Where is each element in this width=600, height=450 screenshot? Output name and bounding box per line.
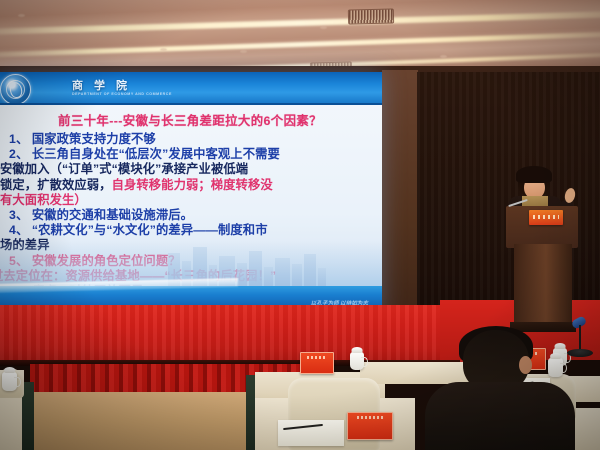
slide-line-part-highlight: 自身转移能力弱；梯度转移没 [112, 178, 273, 192]
ceiling-spotlight-3 [240, 50, 247, 53]
podium-name-plate [529, 210, 563, 225]
slide-line: 有大面积发生） [0, 193, 376, 208]
teacup-back-left [350, 352, 364, 370]
slide-line: 锁定，扩散效应弱，自身转移能力弱；梯度转移没 [0, 178, 376, 193]
presentation-slide: 商学院 DEPARTMENT OF ECONOMY AND COMMERCE 前… [0, 72, 382, 315]
stage-backdrop [0, 305, 485, 365]
school-emblem-icon [0, 74, 31, 105]
ceiling-spotlight-1 [18, 14, 25, 17]
projection-screen: 商学院 DEPARTMENT OF ECONOMY AND COMMERCE 前… [0, 72, 382, 315]
slide-header: 商学院 DEPARTMENT OF ECONOMY AND COMMERCE [0, 72, 382, 105]
ceiling-spotlight-5 [440, 55, 447, 58]
table-microphone [560, 318, 600, 366]
attendee-torso [425, 382, 575, 450]
name-card-front-center [347, 412, 393, 440]
ceiling-vent-icon [348, 8, 394, 24]
notepad-center [278, 420, 344, 446]
microphone-pole [579, 325, 581, 351]
slide-line: 3、 安徽的交通和基础设施滞后。 [0, 208, 376, 223]
slide-header-title-en: DEPARTMENT OF ECONOMY AND COMMERCE [72, 92, 172, 96]
speaker-area [470, 150, 600, 330]
speaker-hand [564, 187, 577, 204]
ceiling [0, 0, 600, 72]
speaker-hair-top [516, 166, 552, 183]
slide-line: 安徽加入（“订单”式“模块化”承接产业被低端 [0, 162, 376, 177]
ceiling-light-strip-1 [0, 11, 600, 34]
slide-line-part: 锁定，扩散效应弱， [0, 178, 112, 192]
wall-panel [382, 70, 418, 320]
slide-header-title-cn: 商学院 [72, 77, 138, 93]
name-card-back-left [300, 352, 334, 374]
ceiling-light-strip-2 [0, 32, 600, 58]
conference-hall-photo: 商学院 DEPARTMENT OF ECONOMY AND COMMERCE 前… [0, 0, 600, 450]
teacup-far-left [2, 372, 17, 391]
ceiling-spotlight-2 [160, 48, 167, 51]
attendee-ear [519, 356, 532, 374]
slide-line: 1、 国家政策支持力度不够 [0, 132, 376, 147]
microphone-base [567, 349, 593, 357]
slide-line: 4、 “农耕文化”与“水文化”的差异——制度和市 [0, 223, 376, 238]
ceiling-spotlight-4 [320, 26, 327, 29]
slide-title: 前三十年---安徽与长三角差距拉大的6个因素？ [4, 111, 376, 129]
slide-line: 2、 长三角自身处在“低层次”发展中客观上不需要 [0, 147, 376, 162]
